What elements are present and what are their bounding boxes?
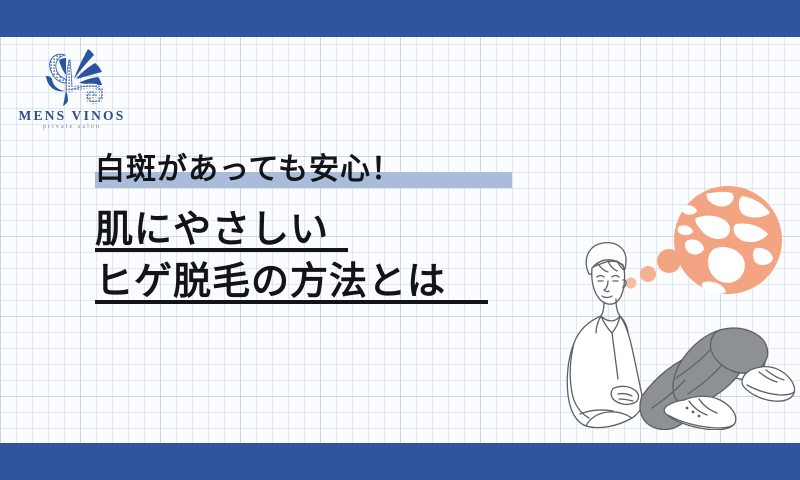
headline-underline-3 — [95, 300, 488, 304]
thought-bubble-globe — [626, 186, 783, 294]
headline-line-1: 白斑があっても安心！ — [95, 150, 555, 190]
headline-line-2: 肌にやさしい — [95, 204, 555, 254]
illustration-seated-man-with-globe-thought — [556, 182, 800, 430]
headline-line-2-text: 肌にやさしい — [95, 207, 329, 251]
logo-tagline: private salon — [14, 124, 130, 130]
thought-dot-medium — [640, 266, 656, 282]
headline: 白斑があっても安心！ 肌にやさしい ヒゲ脱毛の方法とは — [95, 150, 555, 306]
headline-line-3-text: ヒゲ脱毛の方法とは — [95, 259, 446, 303]
logo: MENS VINOS private salon — [14, 46, 130, 136]
headline-line-3: ヒゲ脱毛の方法とは — [95, 256, 555, 306]
top-accent-bar — [0, 0, 800, 37]
logo-wordmark: MENS VINOS — [14, 108, 130, 124]
headline-underline-2 — [95, 248, 348, 252]
banner: MENS VINOS private salon 白斑があっても安心！ 肌にやさ… — [0, 0, 800, 480]
thought-dot-small — [626, 278, 637, 289]
thought-dot-large — [657, 249, 681, 273]
headline-line-1-text: 白斑があっても安心！ — [95, 152, 402, 187]
bottom-accent-bar — [0, 443, 800, 480]
mens-vinos-floral-mark-icon — [32, 46, 112, 108]
